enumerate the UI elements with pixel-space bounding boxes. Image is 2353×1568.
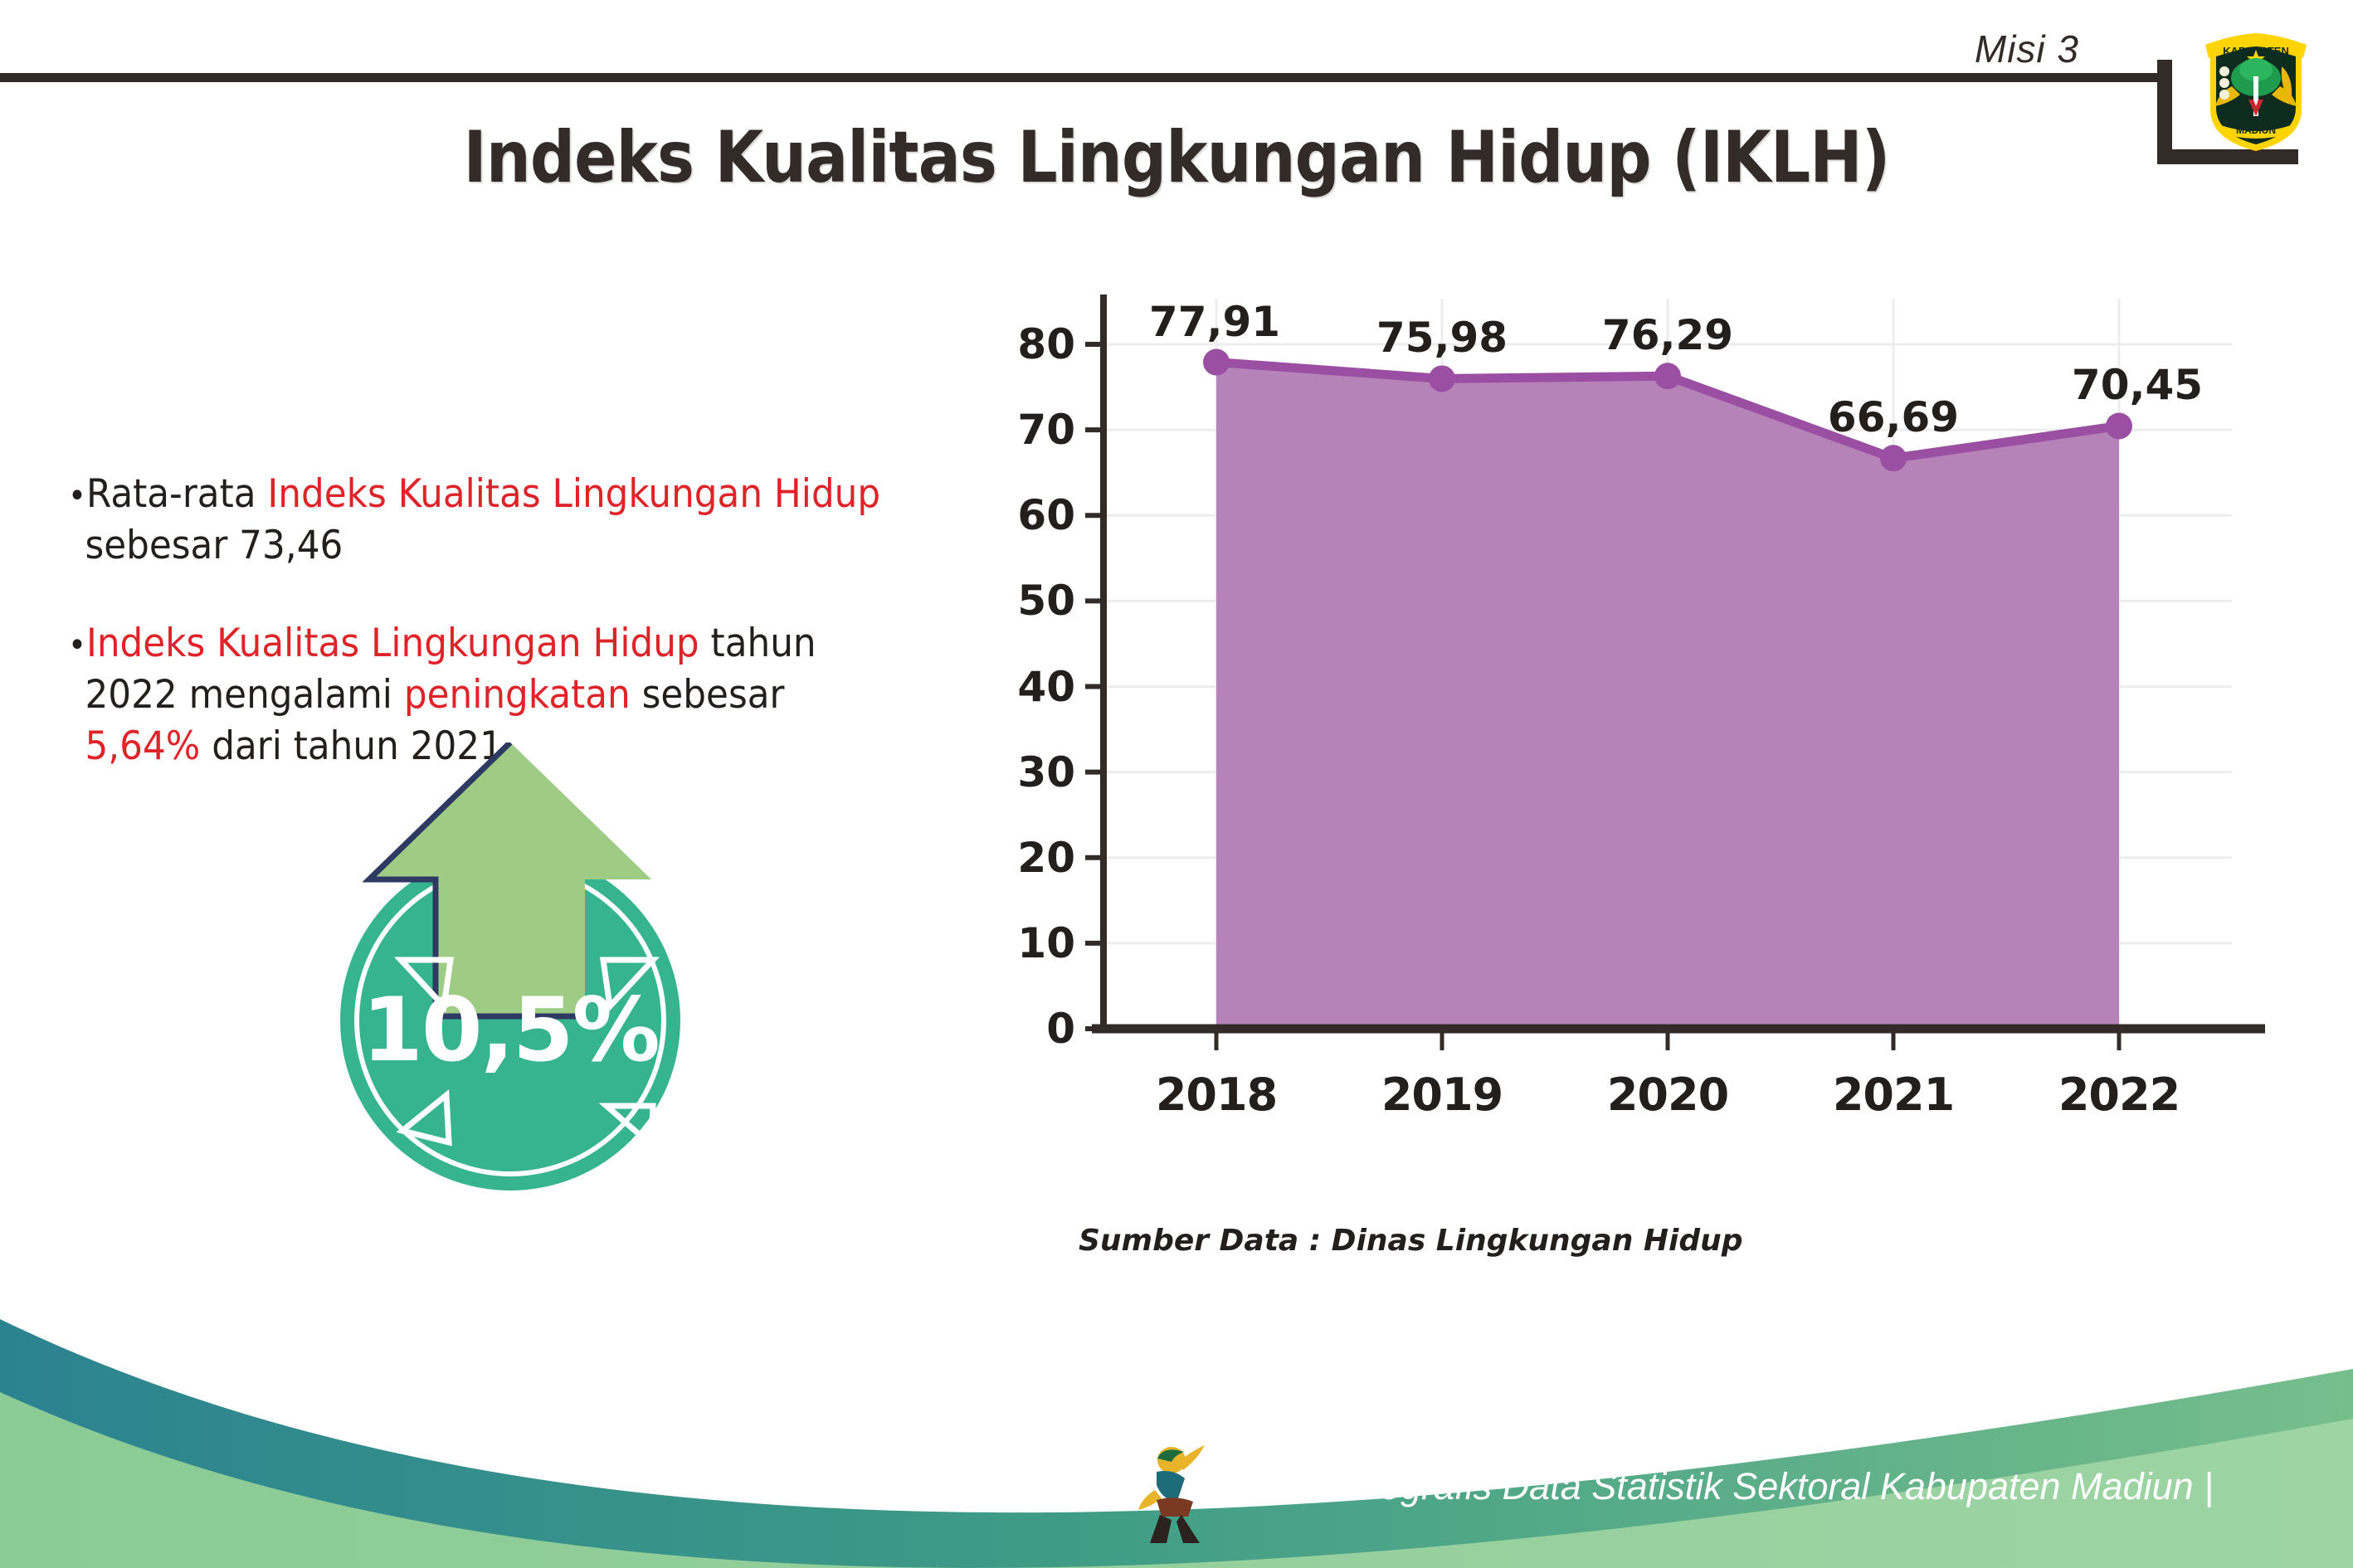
infographic-slide: Misi 3 KABUPATEN MADIUN Indeks Kualitas …	[0, 0, 2353, 1568]
y-tick-label: 60	[926, 491, 1075, 539]
misi-label: Misi 3	[1975, 27, 2079, 71]
page-title: Indeks Kualitas Lingkungan Hidup (IKLH)	[141, 116, 2212, 199]
data-marker	[2106, 412, 2132, 439]
x-tick-label: 2021	[1785, 1069, 2001, 1121]
y-tick-label: 0	[926, 1005, 1075, 1053]
dancer-figure-icon	[1138, 1444, 1218, 1543]
kabupaten-madiun-logo-icon: KABUPATEN MADIUN	[2199, 23, 2313, 156]
bullet-1-segment-1: Rata-rata	[86, 471, 267, 517]
badge-value: 10,5%	[340, 979, 680, 1081]
data-marker	[1429, 365, 1455, 392]
y-tick-label: 80	[926, 320, 1075, 368]
data-label: 76,29	[1602, 311, 1733, 359]
source-note: Sumber Data : Dinas Lingkungan Hidup	[1079, 1224, 1743, 1258]
bullet-2-segment-4: sebesar	[631, 672, 785, 718]
data-label: 77,91	[1149, 298, 1280, 346]
bullet-2-segment-3: peningkatan	[404, 672, 631, 718]
x-tick-label: 2020	[1560, 1069, 1776, 1121]
data-marker	[1203, 349, 1230, 376]
data-label: 75,98	[1376, 314, 1508, 362]
bullet-2-segment-5: 5,64%	[85, 723, 200, 769]
bullet-2-segment-1: Indeks Kualitas Lingkungan Hidup	[86, 621, 699, 666]
iklh-area-chart: 01020304050607080 20182019202020212022 7…	[971, 274, 2265, 1203]
x-tick-label: 2019	[1334, 1069, 1550, 1121]
y-tick-label: 30	[926, 748, 1075, 796]
y-tick-label: 70	[926, 406, 1075, 454]
header-divider-line	[0, 73, 2164, 82]
data-marker	[1880, 445, 1907, 471]
bullet-dot: •	[68, 477, 86, 515]
y-tick-label: 10	[926, 919, 1075, 967]
bullet-1-segment-3: sebesar 73,46	[85, 523, 343, 568]
bullet-dot: •	[68, 626, 86, 665]
y-tick-label: 40	[926, 663, 1075, 711]
data-label: 66,69	[1828, 393, 1959, 441]
bullet-item-1: •Rata-rata Indeks Kualitas Lingkungan Hi…	[68, 469, 894, 572]
chart-canvas	[971, 274, 2265, 1203]
x-tick-label: 2018	[1108, 1069, 1324, 1121]
increase-badge: 10,5%	[311, 743, 743, 1191]
bullet-1-segment-2: Indeks Kualitas Lingkungan Hidup	[267, 471, 880, 517]
y-tick-label: 50	[926, 577, 1075, 625]
svg-text:MADIUN: MADIUN	[2236, 124, 2276, 136]
footer-caption: Media Infografis Data Statistik Sektoral…	[1226, 1465, 2214, 1508]
data-marker	[1654, 363, 1681, 389]
area-fill	[1216, 363, 2119, 1029]
x-tick-label: 2022	[2011, 1069, 2227, 1121]
y-tick-label: 20	[926, 834, 1075, 882]
data-label: 70,45	[2072, 361, 2203, 409]
